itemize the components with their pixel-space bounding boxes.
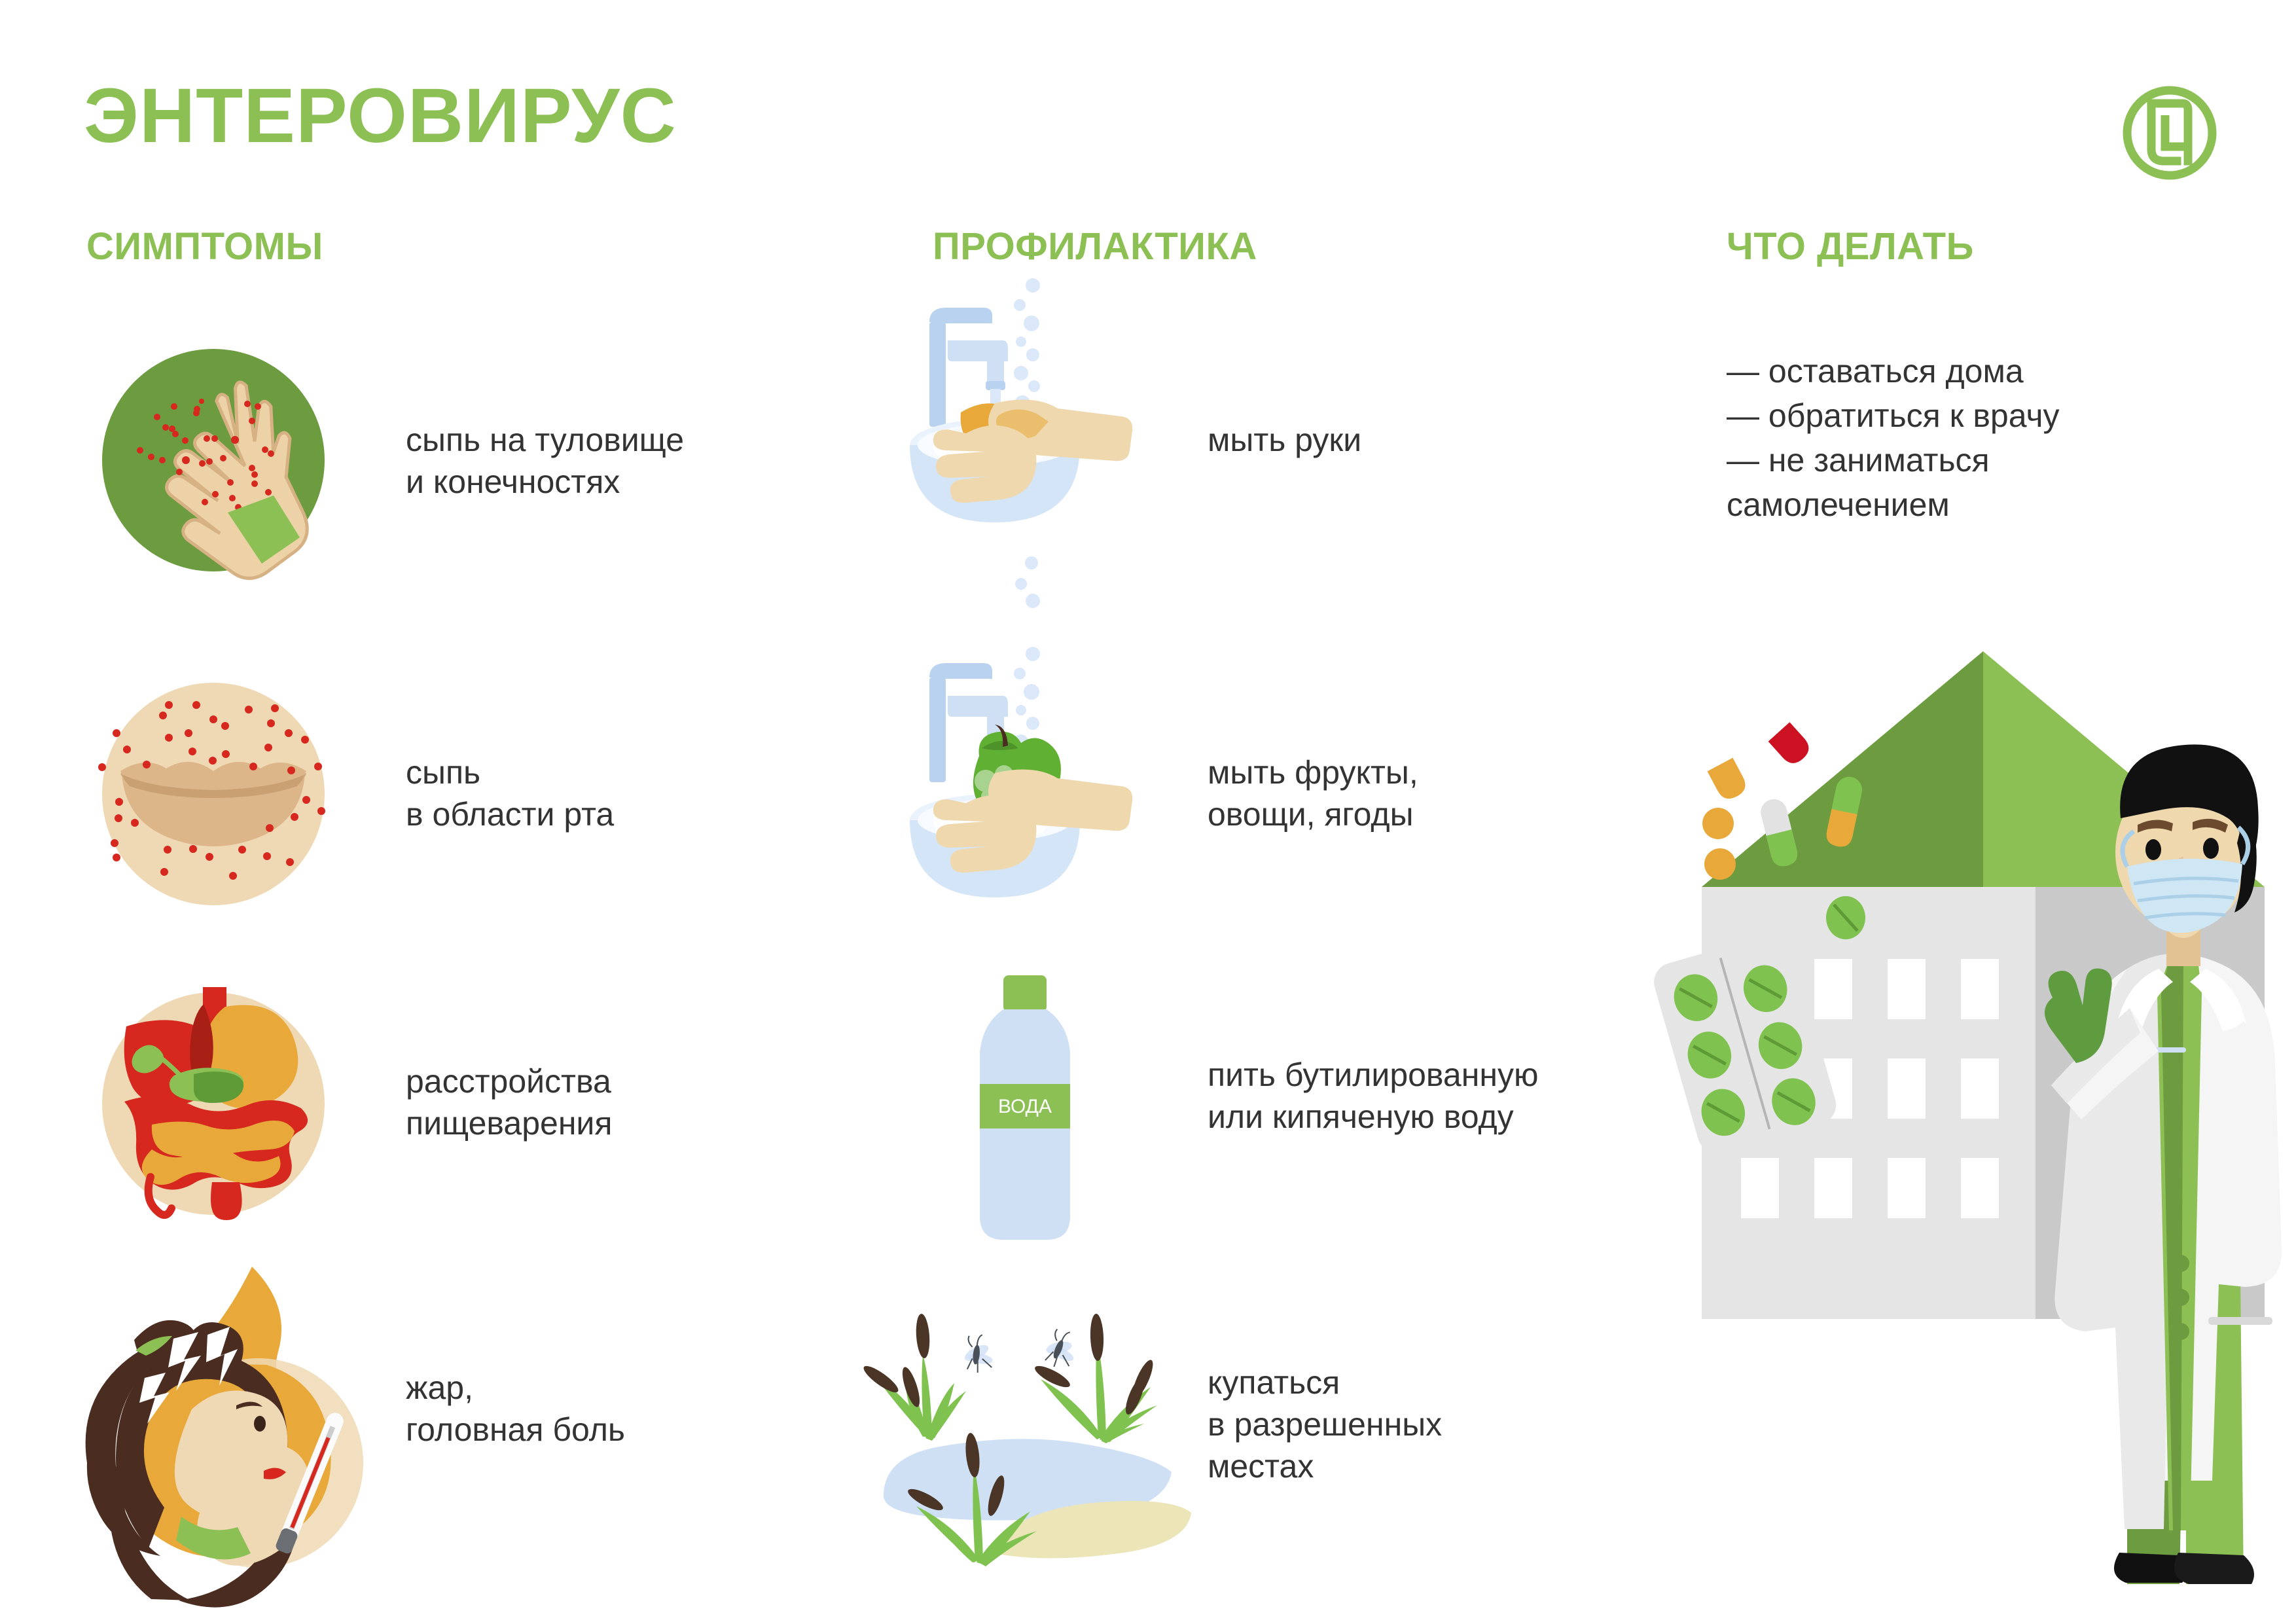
what-to-do-bullet-4: самолечением (1727, 484, 1950, 526)
washing-apple-icon (903, 651, 1178, 979)
what-to-do-bullet-1: — оставаться дома (1727, 350, 2024, 393)
prevention-text-4: купаться в разрешенных местах (1208, 1362, 1442, 1487)
prevention-text-1: мыть руки (1208, 419, 1361, 461)
house-roof-dark (1702, 651, 1983, 887)
mouth-rash-icon (97, 677, 332, 913)
washing-hands-icon (903, 281, 1178, 609)
symptom-text-3: расстройства пищеварения (406, 1060, 612, 1144)
water-bottle-icon: ВОДА (952, 969, 1096, 1263)
prevention-text-2: мыть фрукты, овощи, ягоды (1208, 751, 1418, 835)
hand-rash-icon (97, 344, 332, 579)
what-to-do-bullet-2: — обратиться к врачу (1727, 395, 2060, 437)
digestive-organs-icon (97, 987, 332, 1223)
what-to-do-bullet-3: — не заниматься (1727, 439, 1990, 482)
column-heading-symptoms: СИМПТОМЫ (86, 228, 323, 266)
doctor-in-front-of-house-with-pills (1669, 602, 2296, 1571)
symptom-text-1: сыпь на туловище и конечностях (406, 419, 684, 503)
symptom-text-4: жар, головная боль (406, 1367, 625, 1451)
column-heading-prevention: ПРОФИЛАКТИКА (933, 228, 1257, 266)
infographic-page: ЭНТЕРОВИРУС СИМПТОМЫ ПРОФИЛАКТИКА ЧТО ДЕ… (0, 0, 2296, 1624)
capsule-white-orange (1691, 726, 1749, 803)
bottle-label: ВОДА (998, 1096, 1052, 1117)
fever-headache-icon (36, 1267, 403, 1623)
pill-dot (1704, 848, 1736, 880)
page-title: ЭНТЕРОВИРУС (84, 77, 677, 154)
prevention-text-3: пить бутилированную или кипяченую воду (1208, 1054, 1538, 1138)
symptom-text-2: сыпь в области рта (406, 751, 614, 835)
pill-dot (1702, 808, 1734, 839)
capsule-white-red (1744, 695, 1814, 768)
organization-monogram-logo (2121, 84, 2219, 182)
column-heading-what-to-do: ЧТО ДЕЛАТЬ (1727, 228, 1974, 266)
pond-with-reeds-icon (864, 1299, 1204, 1574)
